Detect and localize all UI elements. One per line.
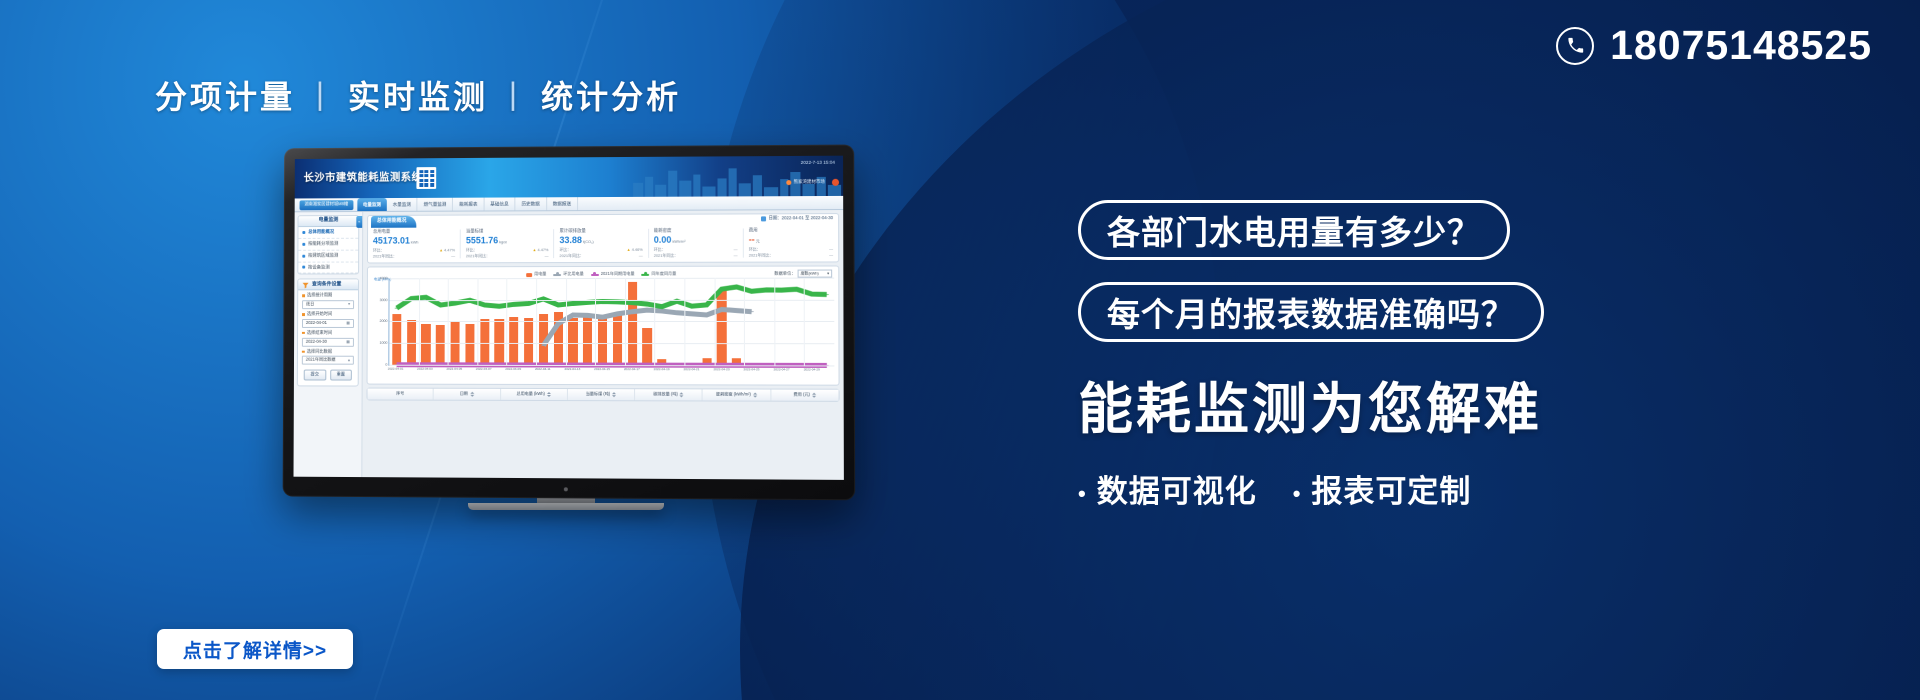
chart-vertical-gridline <box>774 278 775 366</box>
chart-point <box>705 314 709 315</box>
tab-reports[interactable]: 能耗报表 <box>453 198 484 211</box>
square-bullet-icon <box>302 350 304 352</box>
chart-y-tick: 2000 <box>380 320 388 324</box>
kpi-card: 能耗密度0.00kWh/m²环比： —2021年同比：— <box>649 229 744 259</box>
chart-point <box>779 290 784 291</box>
chart-x-tick: 2022-04-19 <box>654 368 670 371</box>
calendar-icon: ▦ <box>346 340 350 344</box>
chart-vertical-gridline <box>714 278 715 365</box>
field-yoy: 选择同比数据 2021年同比数据▾ <box>298 346 358 365</box>
kpi-value: 45173.01kWh <box>373 236 455 246</box>
chart-point <box>527 303 531 304</box>
kpi-value: 33.88t(CO₂) <box>559 236 642 246</box>
sidebar-item-by-zone-label: 按建筑区域监测 <box>308 253 338 258</box>
chevron-down-icon: ▾ <box>348 358 350 362</box>
kpi-yoy-row: 2021年同比：— <box>373 254 455 258</box>
chart-point <box>690 313 694 314</box>
table-header-row: 序号日期总用电量 (kWh)当量标煤 (吨)碳排放量 (吨)能耗密度 (kWh/… <box>367 388 838 400</box>
app-logo-icon <box>416 167 436 189</box>
chart-x-tick: 2022-04-03 <box>417 368 433 371</box>
right-copy-column: 各部门水电用量有多少？ 每个月的报表数据准确吗？ 能耗监测为您解难 •数据可视化… <box>1078 200 1678 511</box>
monitor-stand-base <box>468 503 664 510</box>
kpi-yoy-label: 2021年同比： <box>749 254 774 258</box>
legend-label: 同年度同月量 <box>652 272 677 277</box>
chart-point <box>749 311 753 312</box>
kpi-unit: kWh <box>411 240 419 244</box>
promo-banner: 分项计量丨实时监测丨统计分析 18075148525 点击了解详情>> 各部门水… <box>0 0 1920 700</box>
table-column-header[interactable]: 总用电量 (kWh) <box>501 389 568 400</box>
chart-point <box>571 314 575 315</box>
legend-item[interactable]: 环比用电量 <box>553 272 583 277</box>
sidebar-item-overview[interactable]: 总体用能概况 <box>298 227 358 239</box>
kpi-mom-row: 环比：▲ 4.47% <box>466 248 549 253</box>
sort-icon[interactable] <box>547 392 551 397</box>
chart-vertical-gridline <box>804 277 805 365</box>
chart-point <box>615 301 619 302</box>
app-user-name: 熊家湾建材市场 <box>794 180 825 185</box>
kpi-title: 费用 <box>749 228 833 233</box>
chart-vertical-gridline <box>684 278 685 365</box>
phone-circle-icon <box>1556 27 1594 65</box>
sidebar-item-by-category[interactable]: 按能耗分项监测 <box>298 239 358 251</box>
tab-water[interactable]: 水量监测 <box>387 198 418 211</box>
bullet-icon <box>302 243 305 246</box>
chart-vertical-gridline <box>744 278 745 366</box>
sidebar-item-by-device-label: 按设备监测 <box>308 265 330 270</box>
legend-label: 2021年同期用电量 <box>601 272 635 277</box>
bullet-dot-icon: • <box>1078 481 1087 506</box>
field-start-date-label: 选择开始时间 <box>302 312 354 317</box>
chart-plot-area: 电量 (kWh) 01000200030004000 2022-04-01202… <box>371 277 834 382</box>
tagline-part-1: 分项计量 <box>155 79 295 115</box>
chart-vertical-gridline <box>477 278 478 365</box>
kpi-unit: t(CO₂) <box>583 240 594 244</box>
kpi-yoy-value: — <box>639 254 643 258</box>
bullet-icon <box>302 266 305 269</box>
sidebar-query-panel: 查询条件设置 选择统计周期 逐日▾ 选择开始时间 2022-04-01▦ <box>297 279 359 387</box>
data-table: 序号日期总用电量 (kWh)当量标煤 (吨)碳排放量 (吨)能耗密度 (kWh/… <box>367 387 840 401</box>
monitor-screen: 长沙市建筑能耗监测系统 2022-7-13 15:04 熊家湾建材市场 湖南湘家… <box>294 156 844 480</box>
chart-point <box>424 297 428 298</box>
tagline-separator-2: 丨 <box>488 79 541 115</box>
chart-x-tick: 2022-04-07 <box>476 368 492 371</box>
field-end-date-label: 选择结束时间 <box>302 331 354 336</box>
app-user-info[interactable]: 熊家湾建材市场 <box>786 180 824 185</box>
kpi-mom-label: 环比： <box>559 248 571 252</box>
table-column-header[interactable]: 日期 <box>434 389 501 400</box>
banner-tagline: 分项计量丨实时监测丨统计分析 <box>155 72 681 118</box>
table-column-header[interactable]: 费用 (元) <box>771 389 838 400</box>
chart-x-axis: 2022-04-012022-04-032022-04-052022-04-07… <box>388 366 834 381</box>
yoy-select[interactable]: 2021年同比数据▾ <box>302 356 354 365</box>
filter-icon <box>302 281 309 288</box>
chart-x-tick: 2022-04-25 <box>743 368 759 371</box>
data-unit-value: 度数(kWh) <box>801 272 819 276</box>
kpi-mom-row: 环比：▲ 4.47% <box>373 248 455 252</box>
chart-x-tick: 2022-04-23 <box>713 368 729 371</box>
question-pill-1: 各部门水电用量有多少？ <box>1078 200 1510 260</box>
table-column-header[interactable]: 能耗密度 (kWh/m²) <box>703 389 771 400</box>
kpi-mom-label: 环比： <box>654 248 666 252</box>
chart-x-tick: 2022-04-13 <box>564 368 580 371</box>
chevron-down-icon: ▾ <box>348 303 350 307</box>
bullet-icon <box>302 254 305 257</box>
chart-x-tick: 2022-04-01 <box>388 368 404 371</box>
legend-item[interactable]: 2021年同期用电量 <box>591 272 635 277</box>
kpi-yoy-value: — <box>451 254 455 258</box>
chart-point <box>705 304 709 305</box>
tab-history[interactable]: 历史数据 <box>516 197 547 210</box>
tagline-separator-1: 丨 <box>295 79 348 115</box>
chart-x-tick: 2022-04-17 <box>624 368 640 371</box>
kpi-mom-value: — <box>829 247 833 251</box>
sort-icon[interactable] <box>812 393 816 398</box>
chart-x-tick: 2022-04-29 <box>804 368 820 371</box>
chart-vertical-gridline <box>595 278 596 365</box>
chart-point <box>824 294 829 295</box>
calendar-icon: ▦ <box>346 321 350 325</box>
question-pill-1-text: 各部门水电用量有多少？ <box>1107 206 1481 254</box>
app-title: 长沙市建筑能耗监测系统 <box>304 172 423 184</box>
chart-point <box>734 286 738 287</box>
table-column-label: 费用 (元) <box>793 393 809 398</box>
chart-x-tick: 2022-04-21 <box>684 368 700 371</box>
table-column-label: 当量标煤 (吨) <box>586 392 610 397</box>
chart-point <box>512 304 516 305</box>
question-pill-2: 每个月的报表数据准确吗？ <box>1078 282 1544 342</box>
chart-card: 数据单位： 度数(kWh)▾ 用电量环比用电量2021年同期用电量同年度同月量 … <box>367 266 840 386</box>
kpi-card: 费用--元环比： —2021年同比：— <box>744 228 839 258</box>
kpi-row: 总用电量45173.01kWh环比：▲ 4.47%2021年同比：—当量标煤55… <box>368 226 838 263</box>
tab-electricity[interactable]: 电量监测 <box>357 198 387 211</box>
bullet-icon <box>302 231 305 234</box>
chart-point <box>615 313 619 314</box>
chart-point <box>556 304 560 305</box>
field-period: 选择统计周期 逐日▾ <box>298 291 358 310</box>
kpi-yoy-row: 2021年同比：— <box>466 254 549 258</box>
kpi-title: 总用电量 <box>373 230 455 235</box>
sidebar-collapse-icon[interactable]: « <box>356 216 362 228</box>
tagline-part-3: 统计分析 <box>541 79 681 115</box>
sidebar-item-by-zone[interactable]: 按建筑区域监测 <box>298 250 358 262</box>
chart-y-tick: 3000 <box>380 299 388 303</box>
sort-icon[interactable] <box>753 392 757 397</box>
chart-point <box>586 315 590 316</box>
sort-icon[interactable] <box>680 392 684 397</box>
chart-point <box>734 310 738 311</box>
headline: 能耗监测为您解难 <box>1078 364 1678 444</box>
table-column-header[interactable]: 碳排放量 (吨) <box>635 389 703 400</box>
sidebar-panel-title: 电量监测 <box>298 216 358 227</box>
monitor-mockup: 长沙市建筑能耗监测系统 2022-7-13 15:04 熊家湾建材市场 湖南湘家… <box>280 146 852 498</box>
kpi-mom-value: ▲ 4.47% <box>439 248 455 252</box>
chart-vertical-gridline <box>536 278 537 365</box>
end-date-value: 2022-04-30 <box>306 340 327 345</box>
app-timestamp: 2022-7-13 15:04 <box>801 160 835 165</box>
chart-point <box>630 311 634 312</box>
table-column-label: 碳排放量 (吨) <box>653 392 678 397</box>
nav-brand[interactable]: 湖南湘家居建材城M8幢 <box>300 200 354 210</box>
chart-x-tick: 2022-04-27 <box>774 368 790 371</box>
kpi-mom-value: ▲ 4.47% <box>533 248 549 252</box>
legend-swatch <box>526 273 532 277</box>
sort-icon[interactable] <box>612 392 616 397</box>
sidebar-item-overview-label: 总体用能概况 <box>308 230 334 235</box>
table-column-label: 能耗密度 (kWh/m²) <box>716 393 751 398</box>
chart-point <box>571 303 575 304</box>
kpi-unit: kWh/m² <box>672 240 685 244</box>
kpi-mom-value: ▲ 4.46% <box>627 248 643 252</box>
kpi-yoy-row: 2021年同比：— <box>749 253 833 258</box>
kpi-title: 累计碳排放量 <box>560 229 643 234</box>
field-yoy-label: 选择同比数据 <box>302 349 354 354</box>
feature-bullet-2-text: 报表可定制 <box>1311 474 1471 509</box>
field-end-date: 选择结束时间 2022-04-30▦ <box>298 328 358 347</box>
kpi-unit: 元 <box>756 239 760 243</box>
chevron-down-icon: ▾ <box>827 272 829 276</box>
kpi-mom-row: 环比：▲ 4.46% <box>559 248 642 253</box>
kpi-mom-label: 环比： <box>749 247 761 251</box>
trend-up-icon: ▲ <box>627 247 631 252</box>
chart-point <box>645 310 649 311</box>
table-column-label: 序号 <box>396 392 404 397</box>
chart-point <box>556 323 560 324</box>
chart-point <box>719 309 723 310</box>
query-panel-title-label: 查询条件设置 <box>312 282 341 287</box>
trend-up-icon: ▲ <box>439 247 443 252</box>
monitor-bezel: 长沙市建筑能耗监测系统 2022-7-13 15:04 熊家湾建材市场 湖南湘家… <box>283 145 856 501</box>
query-button-row: 提交 重置 <box>298 365 358 386</box>
feature-bullets: •数据可视化 •报表可定制 <box>1078 466 1678 511</box>
submit-button[interactable]: 提交 <box>304 370 326 381</box>
phone-number: 18075148525 <box>1610 22 1872 69</box>
chart-plot: 01000200030004000 <box>388 277 834 366</box>
contact-phone[interactable]: 18075148525 <box>1556 22 1872 69</box>
chart-point <box>690 306 694 307</box>
question-pill-2-text: 每个月的报表数据准确吗？ <box>1107 288 1515 336</box>
chart-point <box>660 306 664 307</box>
field-period-label: 选择统计周期 <box>302 294 354 299</box>
bullet-dot-icon: • <box>1293 481 1302 506</box>
chart-point <box>809 293 814 294</box>
square-bullet-icon <box>302 332 304 334</box>
kpi-mom-row: 环比： — <box>749 247 833 252</box>
overview-card-title: 总体用能概况 <box>371 216 416 228</box>
kpi-title: 当量标煤 <box>466 229 549 234</box>
kpi-yoy-value: — <box>545 254 549 258</box>
chart-point <box>482 304 486 305</box>
chart-y-tick: 4000 <box>380 277 388 281</box>
sidebar-item-by-device[interactable]: 按设备监测 <box>298 262 358 274</box>
chart-point <box>645 303 649 304</box>
square-bullet-icon <box>302 313 304 315</box>
chart-point <box>675 312 679 313</box>
chart-point <box>453 302 457 303</box>
overview-date-range-label: 日期：2022-04-01 至 2022-04-30 <box>769 216 834 221</box>
chart-x-tick: 2022-04-05 <box>446 368 462 371</box>
user-avatar-icon <box>786 180 791 185</box>
legend-item[interactable]: 用电量 <box>526 272 546 277</box>
sidebar: « 电量监测 总体用能概况 按能耗分项监测 <box>294 212 364 477</box>
chart-x-tick: 2022-04-09 <box>505 368 521 371</box>
kpi-yoy-row: 2021年同比：— <box>654 254 738 259</box>
start-date-input[interactable]: 2022-04-01▦ <box>302 319 354 328</box>
chart-point <box>600 317 604 318</box>
square-bullet-icon <box>302 295 304 297</box>
table-column-header[interactable]: 序号 <box>367 388 433 399</box>
chart-line-同年度同月量 <box>397 287 827 308</box>
period-select[interactable]: 逐日▾ <box>302 300 354 309</box>
legend-swatch <box>553 274 561 276</box>
app-header: 长沙市建筑能耗监测系统 2022-7-13 15:04 熊家湾建材市场 <box>295 156 843 199</box>
kpi-yoy-row: 2021年同比：— <box>559 254 642 258</box>
kpi-mom-label: 环比： <box>466 248 478 252</box>
reset-button[interactable]: 重置 <box>330 370 352 381</box>
tab-basic-info[interactable]: 基础信息 <box>484 197 515 210</box>
legend-swatch <box>591 274 599 276</box>
chart-gridline: 2000 <box>389 321 834 322</box>
kpi-mom-value: — <box>734 247 738 251</box>
tab-data-submit[interactable]: 数据报送 <box>547 197 578 210</box>
chart-vertical-gridline <box>566 278 567 365</box>
sort-icon[interactable] <box>470 392 474 397</box>
kpi-yoy-label: 2021年同比： <box>466 254 490 258</box>
legend-item[interactable]: 同年度同月量 <box>642 272 677 277</box>
chart-point <box>764 289 769 290</box>
chart-vertical-gridline <box>625 278 626 365</box>
chart-point <box>794 289 799 290</box>
sidebar-nav-panel: 电量监测 总体用能概况 按能耗分项监测 按建筑区域监 <box>297 215 359 275</box>
kpi-card: 累计碳排放量33.88t(CO₂)环比：▲ 4.46%2021年同比：— <box>554 229 648 259</box>
table-column-label: 日期 <box>460 392 468 397</box>
table-column-header[interactable]: 当量标煤 (吨) <box>568 389 635 400</box>
chart-vertical-gridline <box>655 278 656 365</box>
chart-vertical-gridline <box>448 278 449 365</box>
monitor-indicator-icon <box>564 487 568 491</box>
feature-bullet-2: •报表可定制 <box>1293 466 1472 511</box>
chart-x-tick: 2022-04-11 <box>535 368 551 371</box>
chart-point <box>541 345 545 346</box>
chart-x-tick: 2022-04-15 <box>594 368 610 371</box>
kpi-yoy-value: — <box>829 253 833 257</box>
kpi-value: 0.00kWh/m² <box>654 235 738 245</box>
chart-point <box>675 301 679 302</box>
kpi-mom-row: 环比： — <box>654 247 738 252</box>
query-panel-title: 查询条件设置 <box>298 280 358 291</box>
chart-point <box>630 302 634 303</box>
chart-point <box>600 301 604 302</box>
start-date-value: 2022-04-01 <box>306 321 327 326</box>
kpi-yoy-label: 2021年同比： <box>559 254 583 258</box>
chart-point <box>438 304 442 305</box>
trend-up-icon: ▲ <box>533 247 537 252</box>
kpi-card: 总用电量45173.01kWh环比：▲ 4.47%2021年同比：— <box>368 229 461 258</box>
overview-card: 总体用能概况 日期：2022-04-01 至 2022-04-30 总用电量45… <box>367 213 839 264</box>
chart-point <box>749 291 753 292</box>
kpi-value: --元 <box>749 235 833 245</box>
legend-swatch <box>642 273 650 275</box>
kpi-yoy-value: — <box>734 254 738 258</box>
main-content: 总体用能概况 日期：2022-04-01 至 2022-04-30 总用电量45… <box>362 210 844 480</box>
kpi-yoy-label: 2021年同比： <box>373 255 397 259</box>
feature-bullet-1-text: 数据可视化 <box>1097 474 1257 509</box>
kpi-mom-label: 环比： <box>373 248 384 252</box>
app-body: « 电量监测 总体用能概况 按能耗分项监测 <box>294 210 844 480</box>
kpi-title: 能耗密度 <box>654 229 738 234</box>
tab-gas[interactable]: 燃气量监测 <box>418 198 454 211</box>
legend-label: 用电量 <box>534 272 546 277</box>
chart-y-tick: 1000 <box>379 342 387 346</box>
tagline-part-2: 实时监测 <box>348 79 488 115</box>
chart-point <box>660 310 664 311</box>
field-start-date: 选择开始时间 2022-04-01▦ <box>298 309 358 328</box>
table-column-label: 总用电量 (kWh) <box>517 392 545 397</box>
learn-more-button[interactable]: 点击了解详情>> <box>157 629 353 669</box>
feature-bullet-1: •数据可视化 <box>1078 466 1257 511</box>
chart-point <box>497 306 501 307</box>
chart-vertical-gridline <box>507 278 508 365</box>
data-unit-label: 数据单位： <box>774 272 795 277</box>
overview-card-header: 总体用能概况 日期：2022-04-01 至 2022-04-30 <box>368 214 838 228</box>
yoy-select-value: 2021年同比数据 <box>306 358 336 363</box>
kpi-card: 当量标煤5551.76kgce环比：▲ 4.47%2021年同比：— <box>461 229 555 258</box>
overview-date-range: 日期：2022-04-01 至 2022-04-30 <box>761 216 833 221</box>
end-date-input[interactable]: 2022-04-30▦ <box>302 337 354 346</box>
chart-point <box>395 308 399 309</box>
sidebar-item-by-category-label: 按能耗分项监测 <box>308 242 338 247</box>
kpi-unit: kgce <box>499 240 507 244</box>
calendar-icon <box>761 216 766 221</box>
legend-label: 环比用电量 <box>563 272 583 277</box>
kpi-value: 5551.76kgce <box>466 236 549 246</box>
chart-point <box>586 302 590 303</box>
logout-icon[interactable] <box>832 179 839 186</box>
kpi-yoy-label: 2021年同比： <box>654 254 678 258</box>
period-select-value: 逐日 <box>306 302 314 307</box>
chart-point <box>719 289 723 290</box>
